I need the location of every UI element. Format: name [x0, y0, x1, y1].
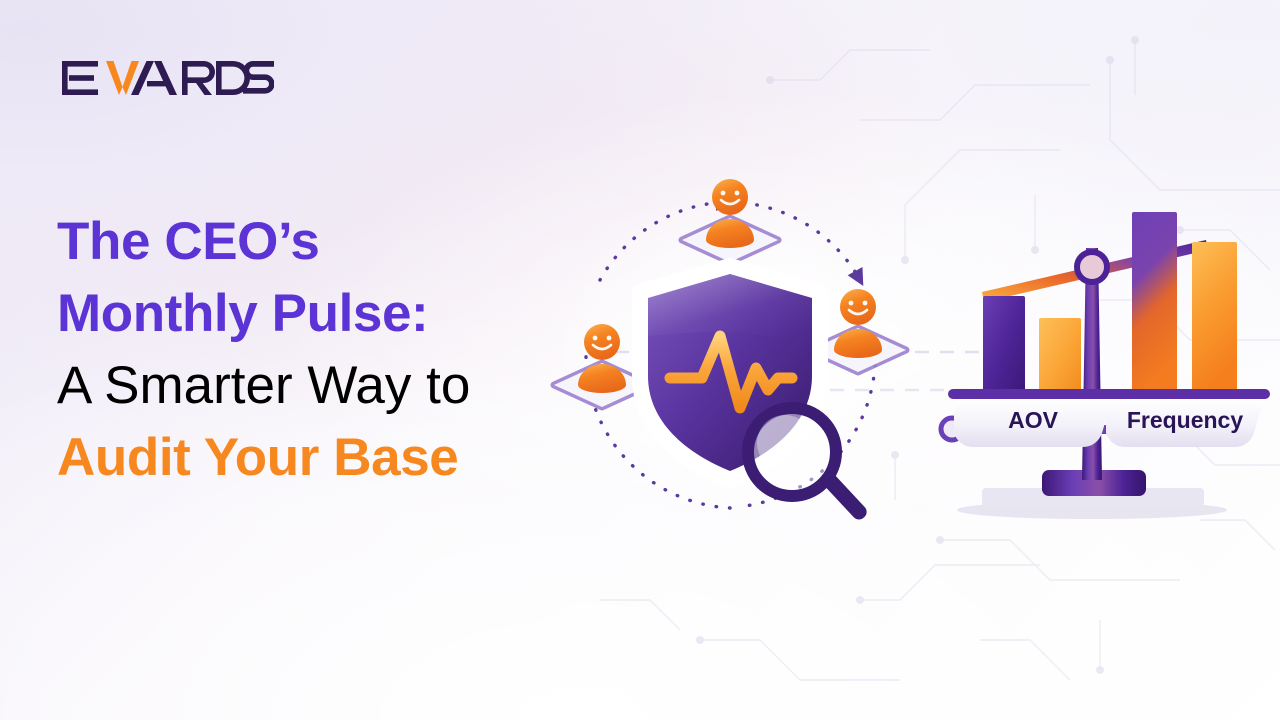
logo-letter-a — [131, 61, 177, 95]
balance-scale: AOV Frequency — [941, 212, 1270, 519]
ewards-logo[interactable] — [62, 56, 274, 100]
frequency-bar-orange — [1192, 242, 1237, 392]
scale-pan-left-label: AOV — [1008, 407, 1059, 433]
logo-letter-e — [62, 61, 98, 95]
scale-fulcrum — [1077, 252, 1107, 282]
scale-pan-right-rim — [1100, 389, 1270, 399]
scale-pan-left-rim — [948, 389, 1118, 399]
aov-bar-orange — [1039, 318, 1081, 392]
marketing-banner: The CEO’s Monthly Pulse: A Smarter Way t… — [0, 0, 1280, 720]
logo-letter-s — [243, 61, 274, 94]
aov-bar-purple — [983, 296, 1025, 392]
logo-letter-r — [182, 61, 215, 95]
frequency-bar-gradient — [1132, 212, 1177, 392]
scale-pan-right-label: Frequency — [1127, 407, 1244, 433]
hero-illustration: AOV Frequency — [530, 140, 1270, 560]
